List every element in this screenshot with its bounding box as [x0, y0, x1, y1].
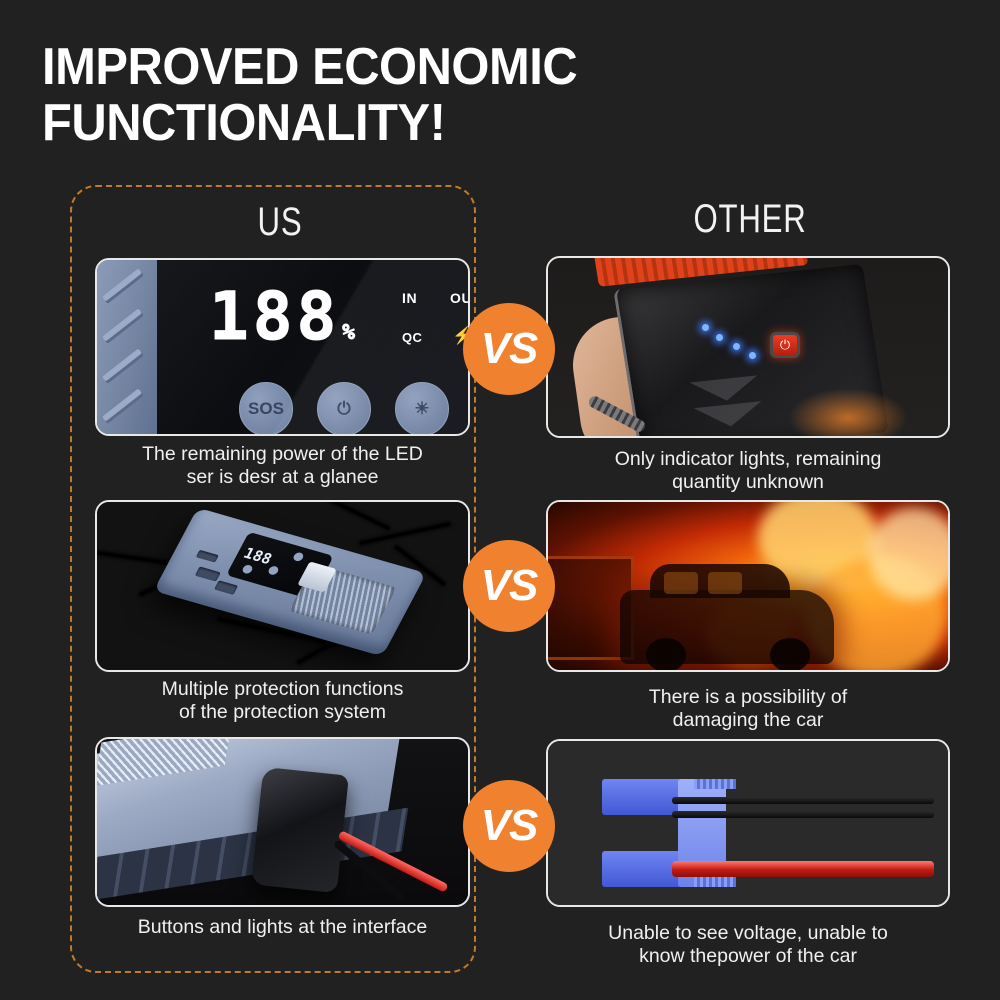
light-button-icon: ☀	[395, 382, 449, 436]
label-out: OUT	[450, 290, 470, 306]
vs-badge-row-3: VS	[463, 780, 555, 872]
burning-car-silhouette	[620, 590, 834, 664]
indicator-led-3	[733, 343, 740, 350]
other-caption-row-3: Unable to see voltage, unable to know th…	[546, 922, 950, 968]
indicator-led-4	[749, 352, 756, 359]
other-image-row-1: ⏻	[546, 256, 950, 438]
us-image-row-2: 188	[95, 500, 470, 672]
other-caption-row-2: There is a possibility of damaging the c…	[546, 686, 950, 732]
label-qc: QC	[402, 330, 422, 345]
battery-percent-readout: 188%	[209, 284, 359, 350]
infographic-page: IMPROVED ECONOMIC FUNCTIONALITY! US OTHE…	[0, 0, 1000, 1000]
led-display-panel: 188% IN OUT QC ⚡⚡ SOS ⏻ ☀	[157, 260, 468, 434]
usb-port-2	[195, 566, 221, 581]
other-image-row-3	[546, 739, 950, 907]
us-image-row-1: 188% IN OUT QC ⚡⚡ SOS ⏻ ☀	[95, 258, 470, 436]
orange-glow	[788, 388, 908, 438]
competitor-power-button-icon: ⏻	[770, 332, 800, 358]
power-button-icon: ⏻	[317, 382, 371, 436]
black-cable-lower	[672, 811, 934, 818]
vs-badge-row-1: VS	[463, 303, 555, 395]
device-button-row: SOS ⏻ ☀	[239, 382, 469, 436]
black-cable-upper	[672, 797, 934, 804]
us-caption-row-2: Multiple protection functions of the pro…	[95, 678, 470, 724]
smart-clamp-connector	[251, 767, 349, 893]
other-caption-row-1: Only indicator lights, remaining quantit…	[546, 448, 950, 494]
sos-button-icon: SOS	[239, 382, 293, 436]
fire-backdrop	[548, 502, 948, 670]
column-heading-us: US	[194, 200, 366, 245]
indicator-led-1	[702, 324, 709, 331]
us-caption-row-1: The remaining power of the LED ser is de…	[95, 443, 470, 489]
usb-port-1	[196, 550, 219, 563]
red-cable	[672, 861, 934, 877]
device-left-grip	[97, 260, 157, 434]
usb-port-3	[214, 580, 238, 595]
indicator-led-2	[716, 334, 723, 341]
label-in: IN	[402, 290, 417, 306]
device-body: 188% IN OUT QC ⚡⚡ SOS ⏻ ☀	[97, 260, 468, 434]
cracked-ground-backdrop: 188	[97, 502, 468, 670]
device-interface-backdrop	[97, 739, 468, 905]
other-image-row-2	[546, 500, 950, 672]
column-heading-other: OTHER	[649, 197, 852, 242]
us-caption-row-3: Buttons and lights at the interface	[85, 916, 480, 939]
page-title: IMPROVED ECONOMIC FUNCTIONALITY!	[42, 40, 888, 151]
photo-backdrop: ⏻	[548, 258, 948, 436]
vs-badge-row-2: VS	[463, 540, 555, 632]
us-image-row-3	[95, 737, 470, 907]
connector-backdrop	[548, 741, 948, 905]
